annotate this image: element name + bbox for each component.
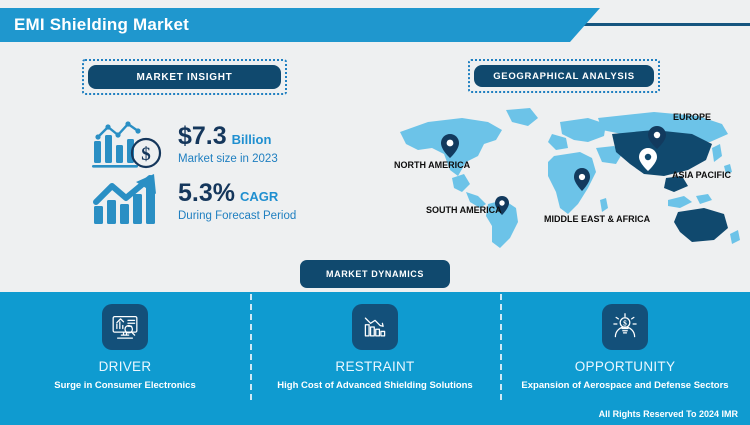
banner-accent-line: [560, 23, 750, 26]
market-insight-label: MARKET INSIGHT: [88, 65, 281, 89]
banner-shape: EMI Shielding Market: [0, 8, 600, 42]
dynamics-description-opportunity: Expansion of Aerospace and Defense Secto…: [515, 380, 734, 391]
geographical-analysis-label: GEOGRAPHICAL ANALYSIS: [474, 65, 654, 87]
dynamics-title-opportunity: OPPORTUNITY: [575, 359, 676, 374]
dynamics-title-restraint: RESTRAINT: [335, 359, 414, 374]
map-label-europe: EUROPE: [673, 112, 711, 122]
monitor-analytics-icon: [102, 304, 148, 350]
market-dynamics-badge: MARKET DYNAMICS: [300, 260, 450, 288]
dynamics-column-driver: DRIVER Surge in Consumer Electronics: [0, 292, 250, 402]
dynamics-column-opportunity: $ OPPORTUNITY Expansion of Aerospace and…: [500, 292, 750, 402]
declining-bar-chart-icon: [352, 304, 398, 350]
infographic-page: EMI Shielding Market MARKET INSIGHT: [0, 0, 750, 425]
dynamics-title-driver: DRIVER: [99, 359, 152, 374]
dynamics-column-restraint: RESTRAINT High Cost of Advanced Shieldin…: [250, 292, 500, 402]
map-highlight-asia-pacific: [612, 130, 728, 242]
title-banner: EMI Shielding Market: [0, 8, 750, 42]
stat-market-size-value-row: $7.3 Billion: [178, 123, 278, 149]
stat-cagr-value-row: 5.3% CAGR: [178, 180, 296, 206]
footer-bar: All Rights Reserved To 2024 IMR: [0, 402, 750, 425]
map-label-asia-pacific: ASIA PACIFIC: [672, 170, 731, 180]
bar-chart-dollar-icon: $: [88, 115, 172, 173]
page-title: EMI Shielding Market: [0, 15, 189, 35]
map-label-north-america: NORTH AMERICA: [394, 160, 470, 170]
stat-cagr-unit: CAGR: [240, 190, 278, 204]
map-label-south-america: SOUTH AMERICA: [426, 205, 502, 215]
world-map: NORTH AMERICA SOUTH AMERICA EUROPE ASIA …: [392, 104, 744, 252]
svg-text:$: $: [141, 144, 151, 165]
market-insight-badge: MARKET INSIGHT: [82, 59, 287, 95]
market-dynamics-band: DRIVER Surge in Consumer Electronics RES…: [0, 292, 750, 402]
stat-market-size-unit: Billion: [232, 133, 272, 147]
dynamics-description-driver: Surge in Consumer Electronics: [48, 380, 201, 391]
growth-arrow-icon: [88, 172, 172, 230]
geographical-analysis-badge: GEOGRAPHICAL ANALYSIS: [468, 59, 660, 93]
stat-market-size-caption: Market size in 2023: [178, 153, 278, 165]
stat-cagr-value: 5.3%: [178, 180, 235, 206]
footer-copyright: All Rights Reserved To 2024 IMR: [599, 409, 750, 419]
lightbulb-dollar-icon: $: [602, 304, 648, 350]
stat-market-size: $ $7.3 Billion Market size in 2023: [88, 115, 278, 173]
stat-cagr-text: 5.3% CAGR During Forecast Period: [178, 180, 296, 221]
stat-cagr-caption: During Forecast Period: [178, 210, 296, 222]
stat-cagr: 5.3% CAGR During Forecast Period: [88, 172, 296, 230]
map-label-middle-east-africa: MIDDLE EAST & AFRICA: [544, 214, 650, 224]
svg-text:$: $: [623, 319, 627, 328]
stat-market-size-value: $7.3: [178, 123, 227, 149]
dynamics-description-restraint: High Cost of Advanced Shielding Solution…: [271, 380, 478, 391]
stat-market-size-text: $7.3 Billion Market size in 2023: [178, 123, 278, 164]
